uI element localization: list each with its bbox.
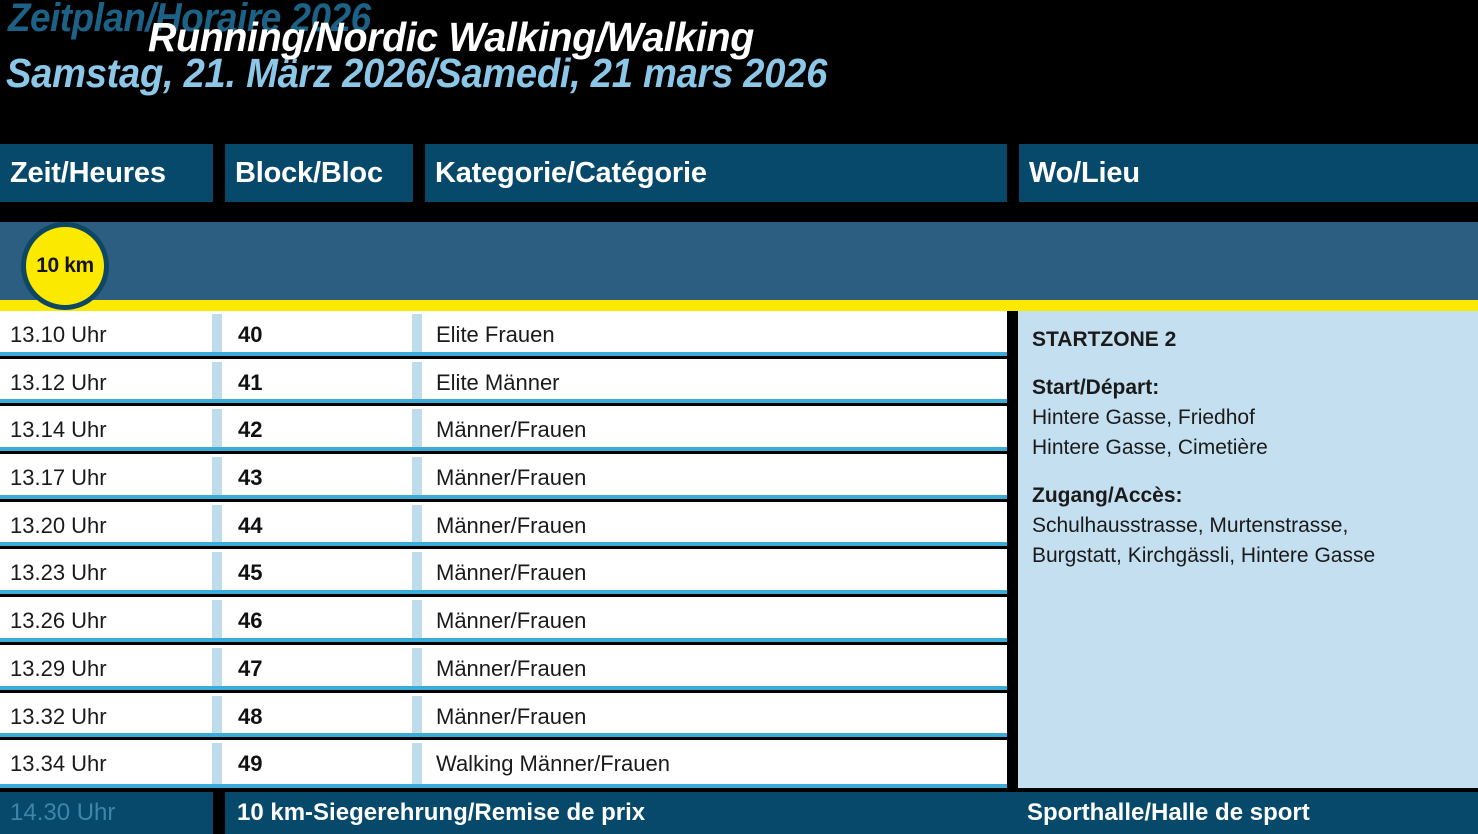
schedule-table-body: 13.10 Uhr40Elite Frauen13.12 Uhr41Elite … xyxy=(0,311,1007,788)
cell-block: 44 xyxy=(238,505,262,546)
footer-divider xyxy=(213,792,225,834)
cell-time: 13.14 Uhr xyxy=(10,409,107,450)
table-row: 13.17 Uhr43Männer/Frauen xyxy=(0,454,1007,502)
table-row: 13.10 Uhr40Elite Frauen xyxy=(0,311,1007,359)
column-separator xyxy=(412,362,422,403)
cell-time: 13.34 Uhr xyxy=(10,743,107,784)
column-separator xyxy=(412,696,422,737)
column-header-where-label: Wo/Lieu xyxy=(1019,144,1140,202)
cell-time: 13.12 Uhr xyxy=(10,362,107,403)
table-row: 13.32 Uhr48Männer/Frauen xyxy=(0,693,1007,741)
table-row: 13.34 Uhr49Walking Männer/Frauen xyxy=(0,740,1007,788)
award-place: Sporthalle/Halle de sport xyxy=(1027,792,1310,834)
cell-time: 13.32 Uhr xyxy=(10,696,107,737)
section-underline xyxy=(0,300,1478,311)
cell-block: 48 xyxy=(238,696,262,737)
cell-block: 43 xyxy=(238,457,262,498)
column-separator xyxy=(212,314,222,355)
column-header-category: Kategorie/Catégorie xyxy=(425,144,1007,202)
access-line-2: Burgstatt, Kirchgässli, Hintere Gasse xyxy=(1032,541,1478,571)
start-label: Start/Départ: xyxy=(1032,373,1478,403)
cell-category: Walking Männer/Frauen xyxy=(436,743,670,784)
column-separator xyxy=(412,743,422,784)
column-header-where: Wo/Lieu xyxy=(1019,144,1478,202)
info-spacer-2 xyxy=(1032,463,1478,481)
column-header-block: Block/Bloc xyxy=(225,144,413,202)
column-separator xyxy=(212,505,222,546)
column-separator xyxy=(212,552,222,593)
column-separator xyxy=(412,648,422,689)
table-row: 13.23 Uhr45Männer/Frauen xyxy=(0,549,1007,597)
cell-category: Männer/Frauen xyxy=(436,600,586,641)
info-spacer-1 xyxy=(1032,355,1478,373)
award-label: 10 km-Siegerehrung/Remise de prix xyxy=(237,792,645,834)
table-row: 13.20 Uhr44Männer/Frauen xyxy=(0,502,1007,550)
column-header-time-label: Zeit/Heures xyxy=(0,144,166,202)
column-separator xyxy=(412,409,422,450)
cell-time: 13.29 Uhr xyxy=(10,648,107,689)
section-title: Running/Nordic Walking/Walking xyxy=(148,14,754,61)
column-separator xyxy=(212,409,222,450)
cell-block: 47 xyxy=(238,648,262,689)
distance-badge-label: 10 km xyxy=(26,227,104,305)
start-line-fr: Hintere Gasse, Cimetière xyxy=(1032,433,1478,463)
access-line-1: Schulhausstrasse, Murtenstrasse, xyxy=(1032,511,1478,541)
column-separator xyxy=(412,505,422,546)
table-row: 13.14 Uhr42Männer/Frauen xyxy=(0,406,1007,454)
column-separator xyxy=(412,314,422,355)
column-separator xyxy=(412,552,422,593)
table-row: 13.29 Uhr47Männer/Frauen xyxy=(0,645,1007,693)
location-info-panel: STARTZONE 2 Start/Départ: Hintere Gasse,… xyxy=(1018,311,1478,788)
column-separator xyxy=(412,457,422,498)
column-separator xyxy=(212,743,222,784)
schedule-page: Zeitplan/Horaire 2026 Samstag, 21. März … xyxy=(0,0,1478,834)
award-time: 14.30 Uhr xyxy=(10,792,115,834)
column-separator xyxy=(412,600,422,641)
table-row: 13.12 Uhr41Elite Männer xyxy=(0,359,1007,407)
column-header-category-label: Kategorie/Catégorie xyxy=(425,144,707,202)
column-header-time: Zeit/Heures xyxy=(0,144,213,202)
cell-time: 13.23 Uhr xyxy=(10,552,107,593)
cell-time: 13.10 Uhr xyxy=(10,314,107,355)
cell-block: 49 xyxy=(238,743,262,784)
column-separator xyxy=(212,648,222,689)
cell-category: Männer/Frauen xyxy=(436,696,586,737)
distance-badge: 10 km xyxy=(21,222,109,310)
column-separator xyxy=(212,457,222,498)
cell-time: 13.20 Uhr xyxy=(10,505,107,546)
cell-category: Elite Männer xyxy=(436,362,560,403)
access-label: Zugang/Accès: xyxy=(1032,481,1478,511)
cell-block: 41 xyxy=(238,362,262,403)
cell-category: Männer/Frauen xyxy=(436,505,586,546)
cell-category: Männer/Frauen xyxy=(436,409,586,450)
award-ceremony-row: 14.30 Uhr 10 km-Siegerehrung/Remise de p… xyxy=(0,792,1478,834)
cell-category: Elite Frauen xyxy=(436,314,555,355)
column-separator xyxy=(212,696,222,737)
column-separator xyxy=(212,600,222,641)
cell-category: Männer/Frauen xyxy=(436,648,586,689)
start-line-de: Hintere Gasse, Friedhof xyxy=(1032,403,1478,433)
cell-block: 42 xyxy=(238,409,262,450)
section-banner xyxy=(0,222,1478,300)
table-row: 13.26 Uhr46Männer/Frauen xyxy=(0,597,1007,645)
cell-block: 46 xyxy=(238,600,262,641)
cell-time: 13.26 Uhr xyxy=(10,600,107,641)
table-header-row: Zeit/Heures Block/Bloc Kategorie/Catégor… xyxy=(0,144,1478,202)
cell-category: Männer/Frauen xyxy=(436,552,586,593)
startzone-heading: STARTZONE 2 xyxy=(1032,325,1478,355)
cell-block: 40 xyxy=(238,314,262,355)
column-header-block-label: Block/Bloc xyxy=(225,144,383,202)
cell-time: 13.17 Uhr xyxy=(10,457,107,498)
cell-category: Männer/Frauen xyxy=(436,457,586,498)
cell-block: 45 xyxy=(238,552,262,593)
column-separator xyxy=(212,362,222,403)
